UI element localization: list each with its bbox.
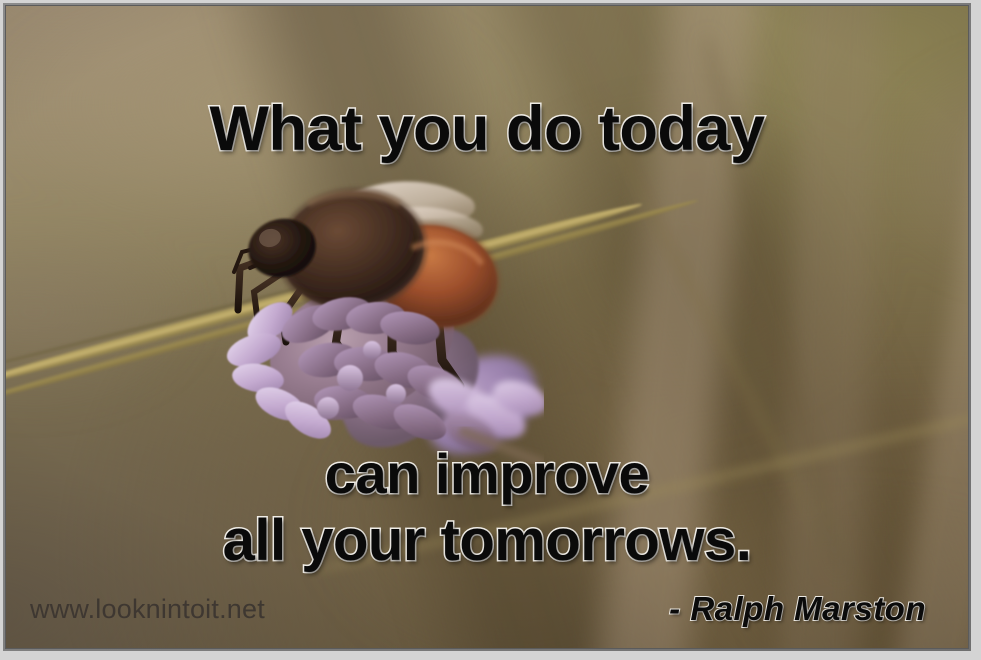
quote-line-2: can improve	[6, 443, 968, 505]
poster-frame: What you do today can improve all your t…	[0, 0, 981, 660]
website-url-watermark: www.looknintoit.net	[30, 594, 265, 625]
quote-line-3: all your tomorrows.	[6, 509, 968, 573]
quote-attribution: - Ralph Marston	[669, 590, 926, 628]
photograph-bee-on-lavender: What you do today can improve all your t…	[6, 6, 968, 648]
quote-line-1: What you do today	[6, 94, 968, 164]
